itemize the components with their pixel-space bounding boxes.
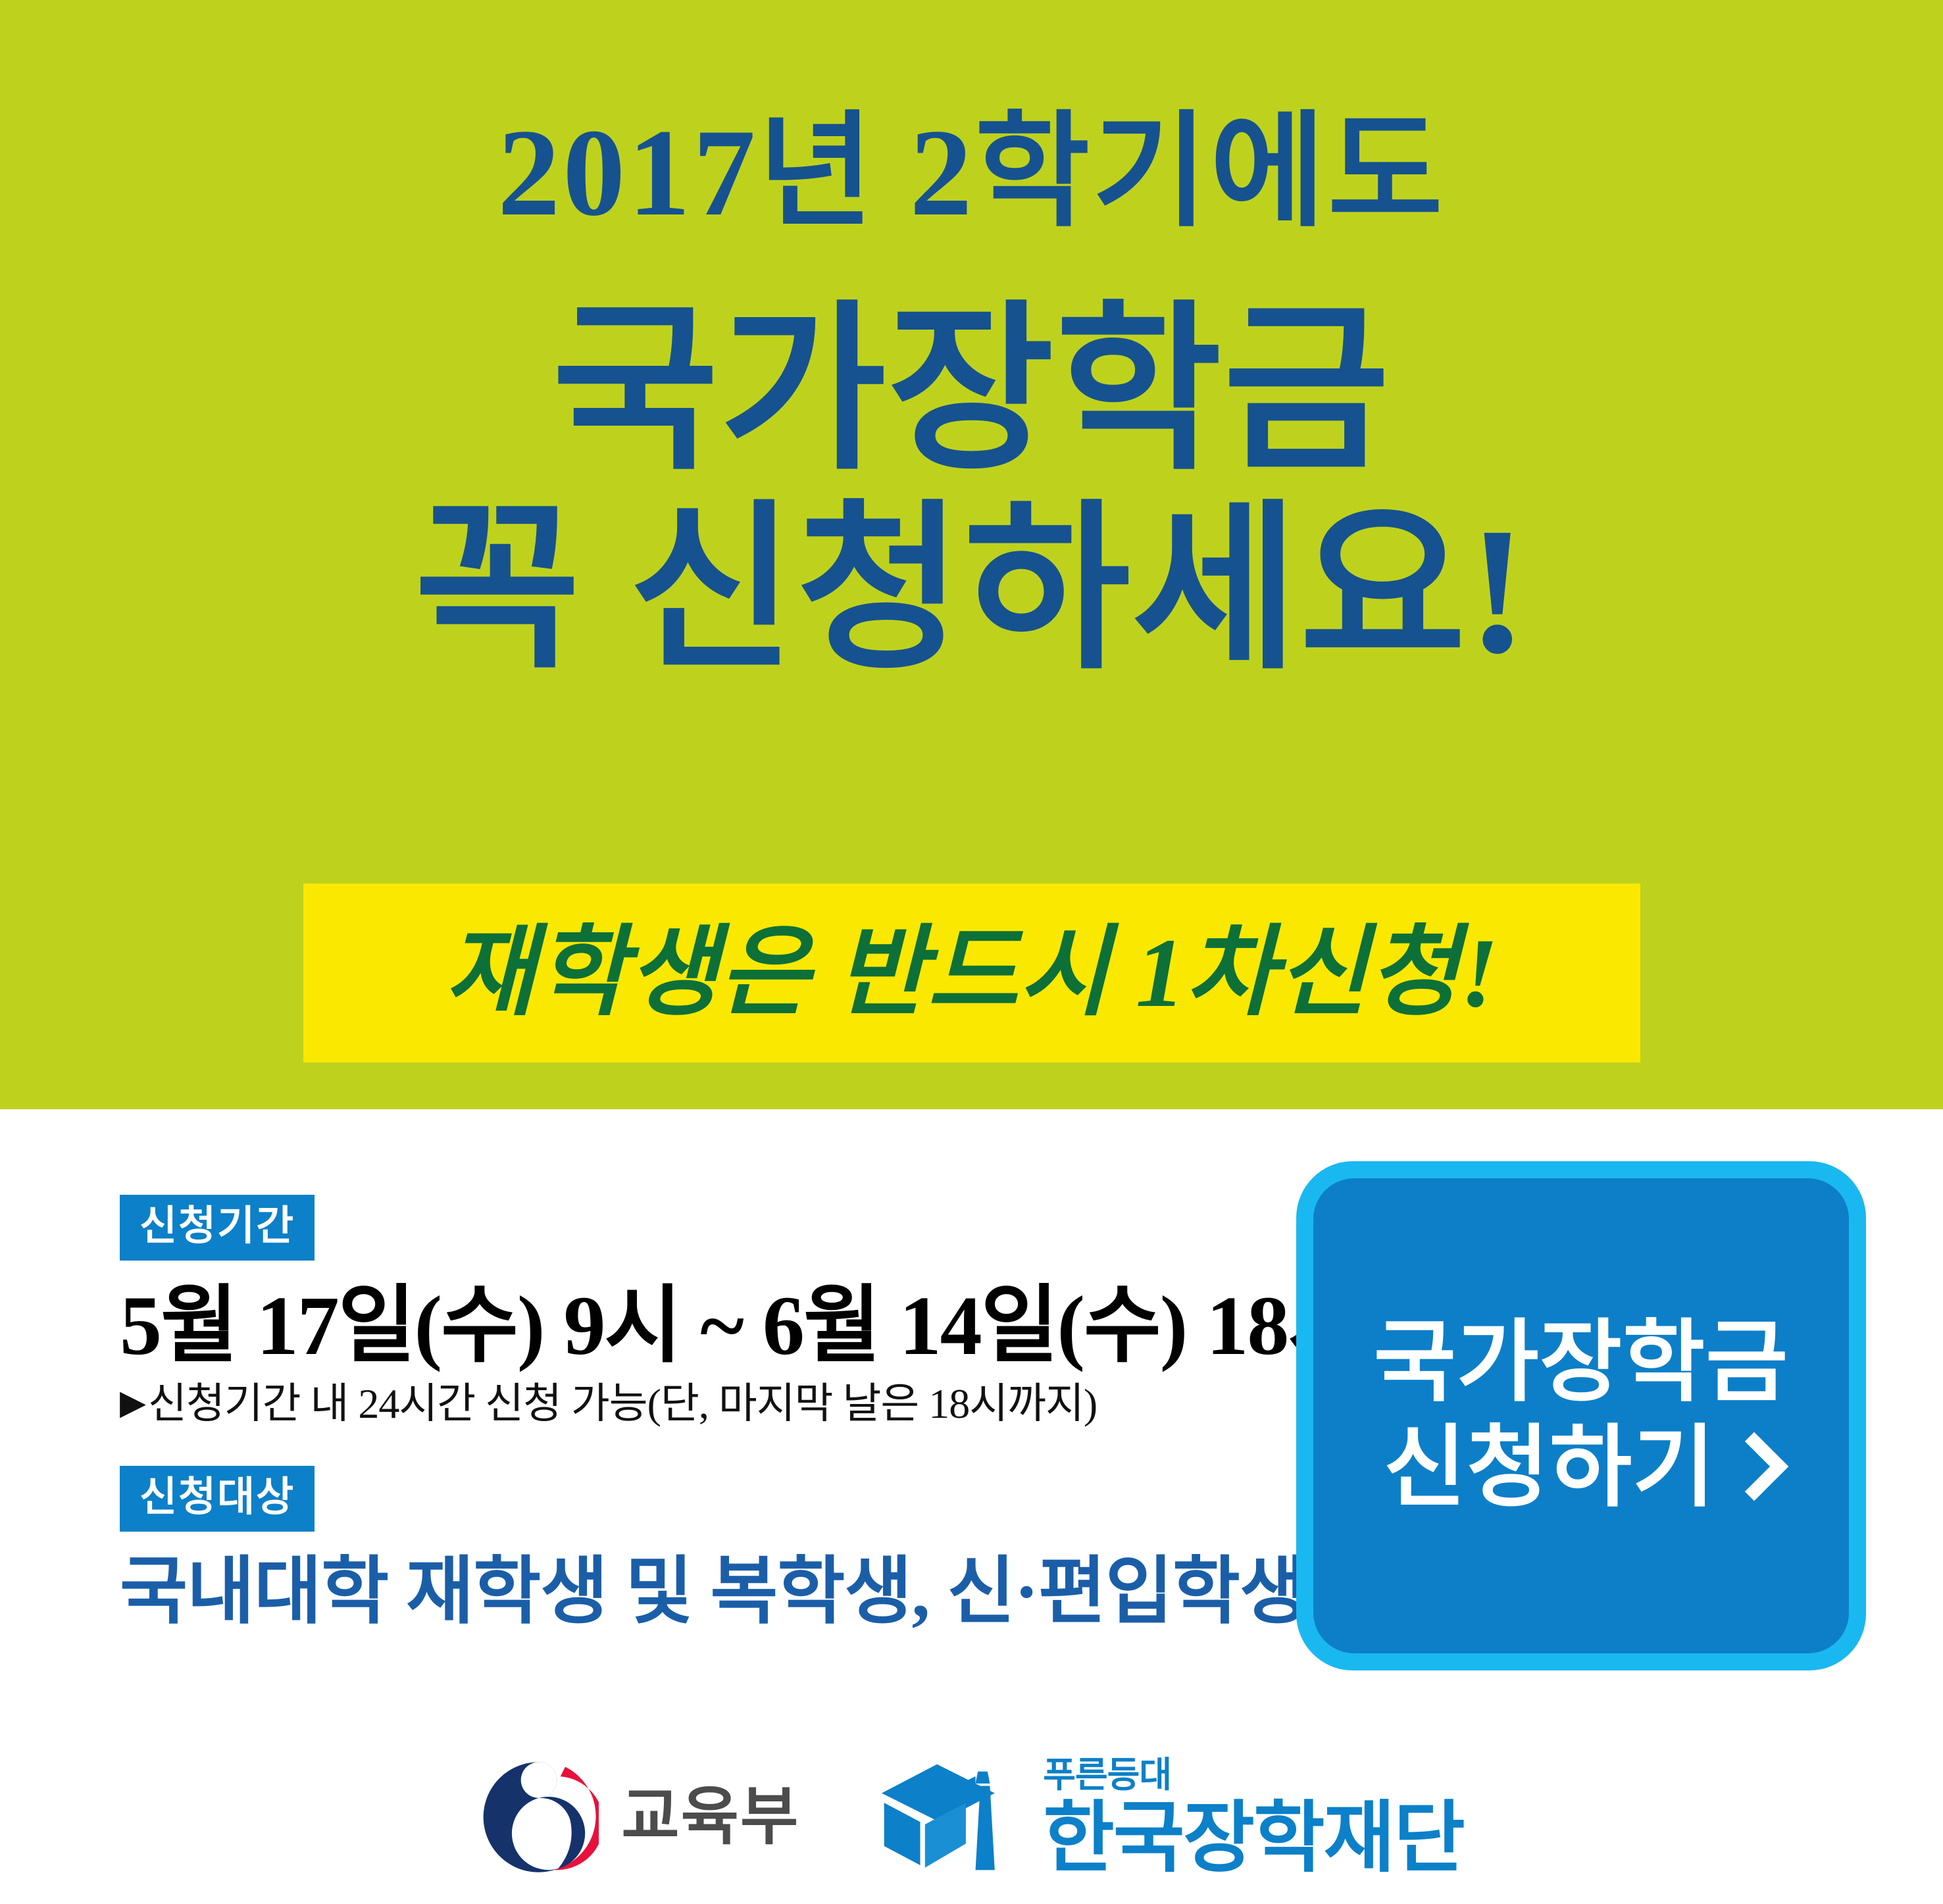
page-title: 국가장학금 꼭 신청하세요! (0, 299, 1943, 683)
application-target-block: 신청대상 국내대학 재학생 및 복학생, 신·편입학생 (120, 1466, 1298, 1632)
hero-eyebrow: 2017년 2학기에도 (0, 111, 1943, 236)
chevron-right-icon (1720, 1432, 1789, 1501)
footer-logos: 교육부 푸른등대 한국장학 (0, 1730, 1943, 1904)
hero-section: 2017년 2학기에도 국가장학금 꼭 신청하세요! 재학생은 반드시 1차신청… (0, 0, 1943, 1109)
kosaf-logo-wordmark: 푸른등대 한국장학재단 (1043, 1757, 1463, 1877)
info-details: 신청기간 5월 17일(수) 9시 ~ 6월 14일(수) 18시 ▶신청기간 … (120, 1195, 1298, 1632)
application-period-note-text: 신청기간 내 24시간 신청 가능(단, 마지막 날은 18시까지) (148, 1380, 1097, 1427)
scholarship-banner: 2017년 2학기에도 국가장학금 꼭 신청하세요! 재학생은 반드시 1차신청… (0, 0, 1943, 1904)
triangle-bullet-icon: ▶ (120, 1384, 145, 1422)
apply-button-label-line-1: 국가장학금 (1374, 1311, 1789, 1416)
kosaf-logo: 푸른등대 한국장학재단 (878, 1755, 1463, 1880)
application-period-value: 5월 17일(수) 9시 ~ 6월 14일(수) 18시 (120, 1282, 1298, 1370)
application-period-note: ▶신청기간 내 24시간 신청 가능(단, 마지막 날은 18시까지) (120, 1380, 1298, 1428)
apply-button-label-line-2-row: 신청하기 (1384, 1416, 1779, 1521)
application-period-block: 신청기간 5월 17일(수) 9시 ~ 6월 14일(수) 18시 ▶신청기간 … (120, 1195, 1298, 1428)
kosaf-tagline: 푸른등대 (1043, 1757, 1463, 1793)
ministry-of-education-logo: 교육부 (479, 1757, 799, 1877)
graduation-cap-lighthouse-icon (878, 1755, 1024, 1880)
apply-button-label-line-2: 신청하기 (1384, 1416, 1715, 1521)
application-target-badge: 신청대상 (120, 1466, 315, 1532)
hero-title-line-1: 국가장학금 (0, 299, 1943, 484)
korea-government-taegeuk-icon (479, 1757, 599, 1877)
highlight-band: 재학생은 반드시 1차신청! (303, 884, 1640, 1063)
apply-scholarship-button[interactable]: 국가장학금 신청하기 (1296, 1161, 1866, 1670)
kosaf-name: 한국장학재단 (1043, 1799, 1463, 1877)
highlight-text: 재학생은 반드시 1차신청! (445, 924, 1499, 1022)
application-period-badge: 신청기간 (120, 1195, 315, 1261)
ministry-of-education-name: 교육부 (621, 1786, 799, 1849)
application-target-value: 국내대학 재학생 및 복학생, 신·편입학생 (120, 1554, 1298, 1632)
hero-title-line-2: 꼭 신청하세요! (0, 499, 1943, 684)
apply-scholarship-button-inner: 국가장학금 신청하기 (1313, 1178, 1849, 1653)
